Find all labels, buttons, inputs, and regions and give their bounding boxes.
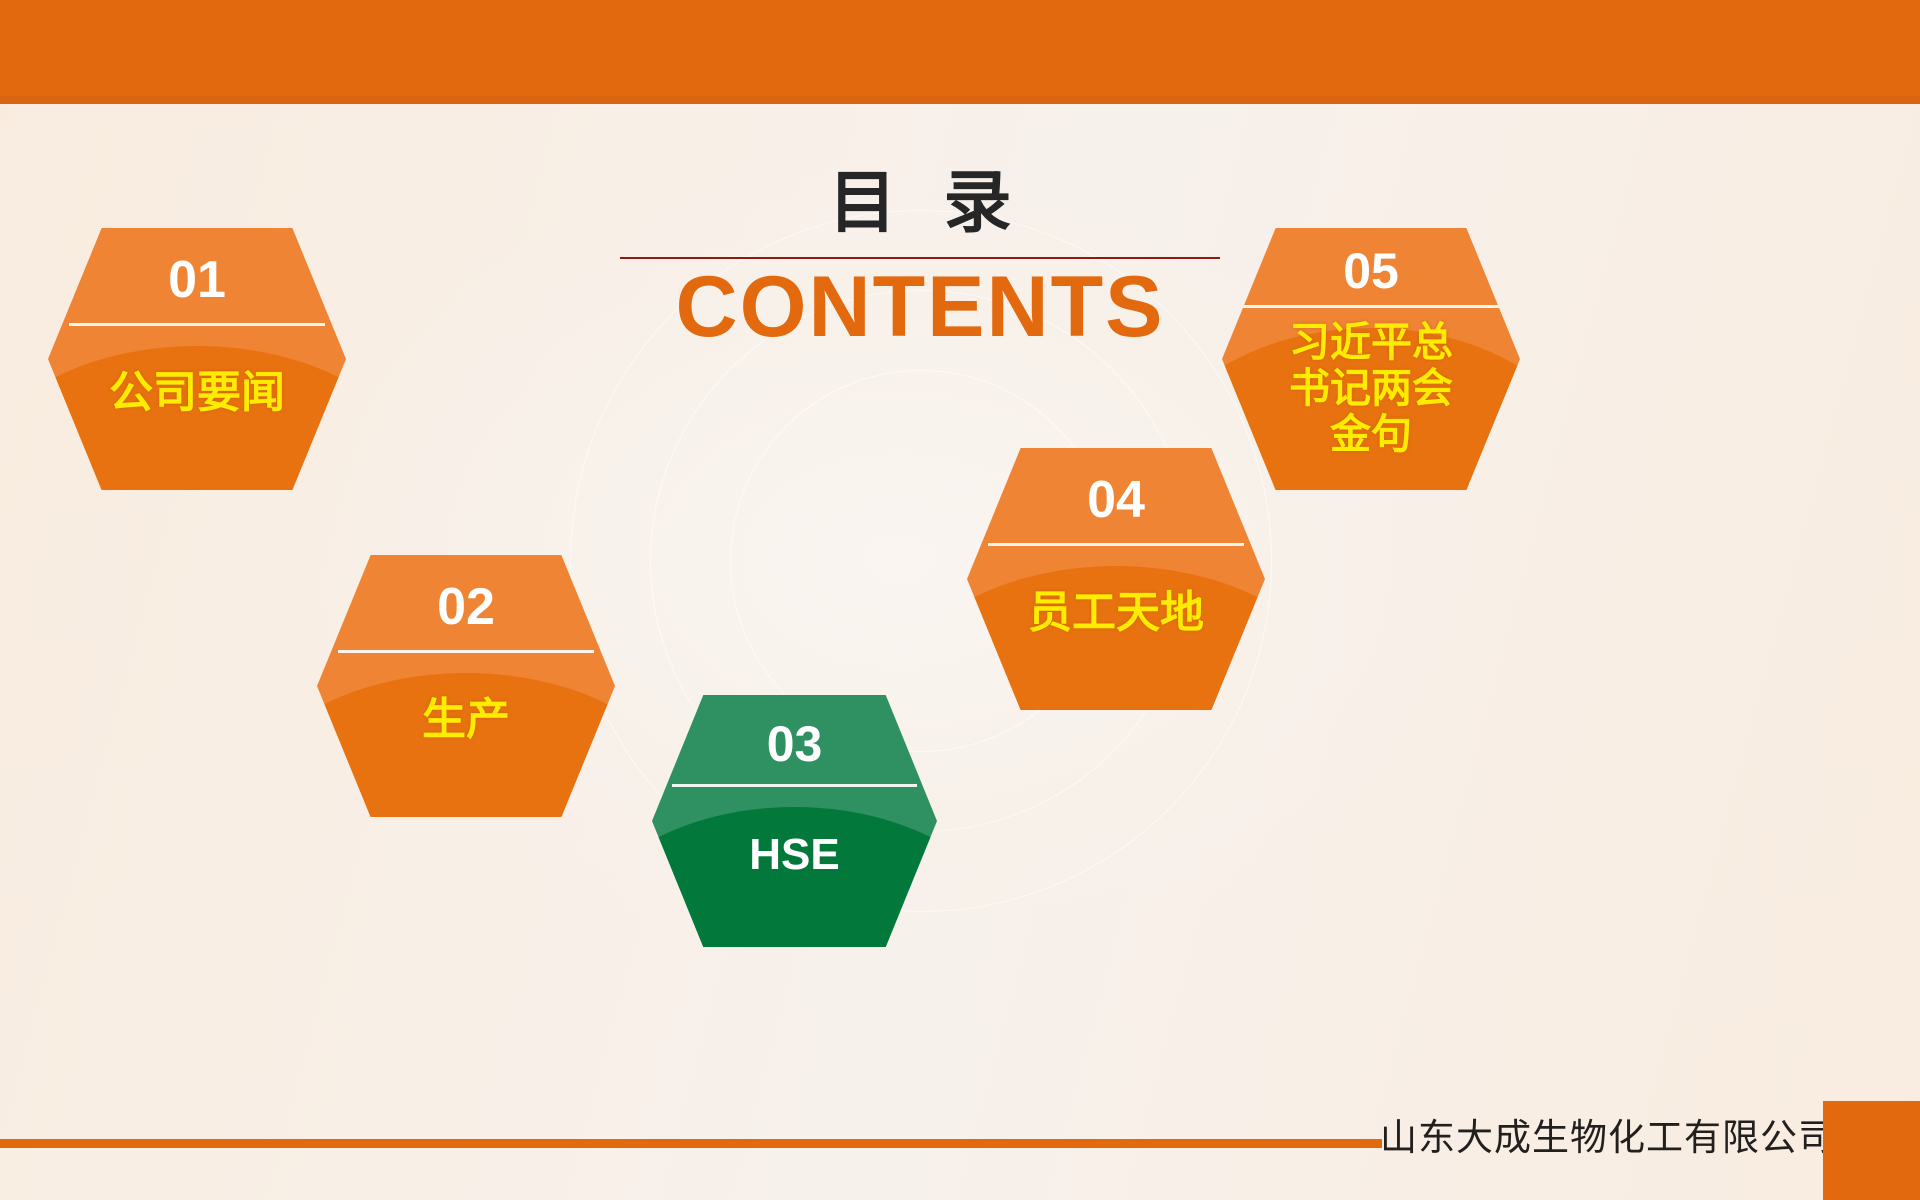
top-banner-shadow xyxy=(0,96,1920,104)
section-label-03: HSE xyxy=(652,830,937,879)
heading-english: CONTENTS xyxy=(620,261,1220,354)
hex-divider-02 xyxy=(338,650,594,653)
section-label-04: 员工天地 xyxy=(967,588,1265,637)
footer-company-name: 山东大成生物化工有限公司 xyxy=(1380,1107,1810,1161)
section-hexagon-01[interactable]: 01 公司要闻 xyxy=(48,228,346,490)
section-number-05: 05 xyxy=(1222,246,1520,296)
hex-divider-01 xyxy=(69,323,325,326)
slide-heading: 目 录 CONTENTS xyxy=(620,168,1220,354)
section-hexagon-03[interactable]: 03 HSE xyxy=(652,695,937,947)
section-number-04: 04 xyxy=(967,474,1265,526)
footer-rule xyxy=(0,1139,1382,1148)
footer-accent-block xyxy=(1823,1101,1920,1200)
section-number-02: 02 xyxy=(317,581,615,633)
hex-divider-03 xyxy=(672,784,917,787)
section-number-01: 01 xyxy=(48,254,346,306)
section-label-05: 习近平总 书记两会 金句 xyxy=(1222,320,1520,458)
hex-divider-05 xyxy=(1243,305,1499,308)
hex-divider-04 xyxy=(988,543,1244,546)
slide-canvas: 目 录 CONTENTS 01 公司要闻 02 生产 03 HSE 04 员工 xyxy=(0,0,1920,1200)
section-label-01: 公司要闻 xyxy=(48,368,346,417)
heading-chinese: 目 录 xyxy=(620,168,1220,239)
section-number-03: 03 xyxy=(652,719,937,769)
section-hexagon-05[interactable]: 05 习近平总 书记两会 金句 xyxy=(1222,228,1520,490)
section-hexagon-04[interactable]: 04 员工天地 xyxy=(967,448,1265,710)
section-label-02: 生产 xyxy=(317,695,615,744)
section-hexagon-02[interactable]: 02 生产 xyxy=(317,555,615,817)
top-banner-bar xyxy=(0,0,1920,104)
